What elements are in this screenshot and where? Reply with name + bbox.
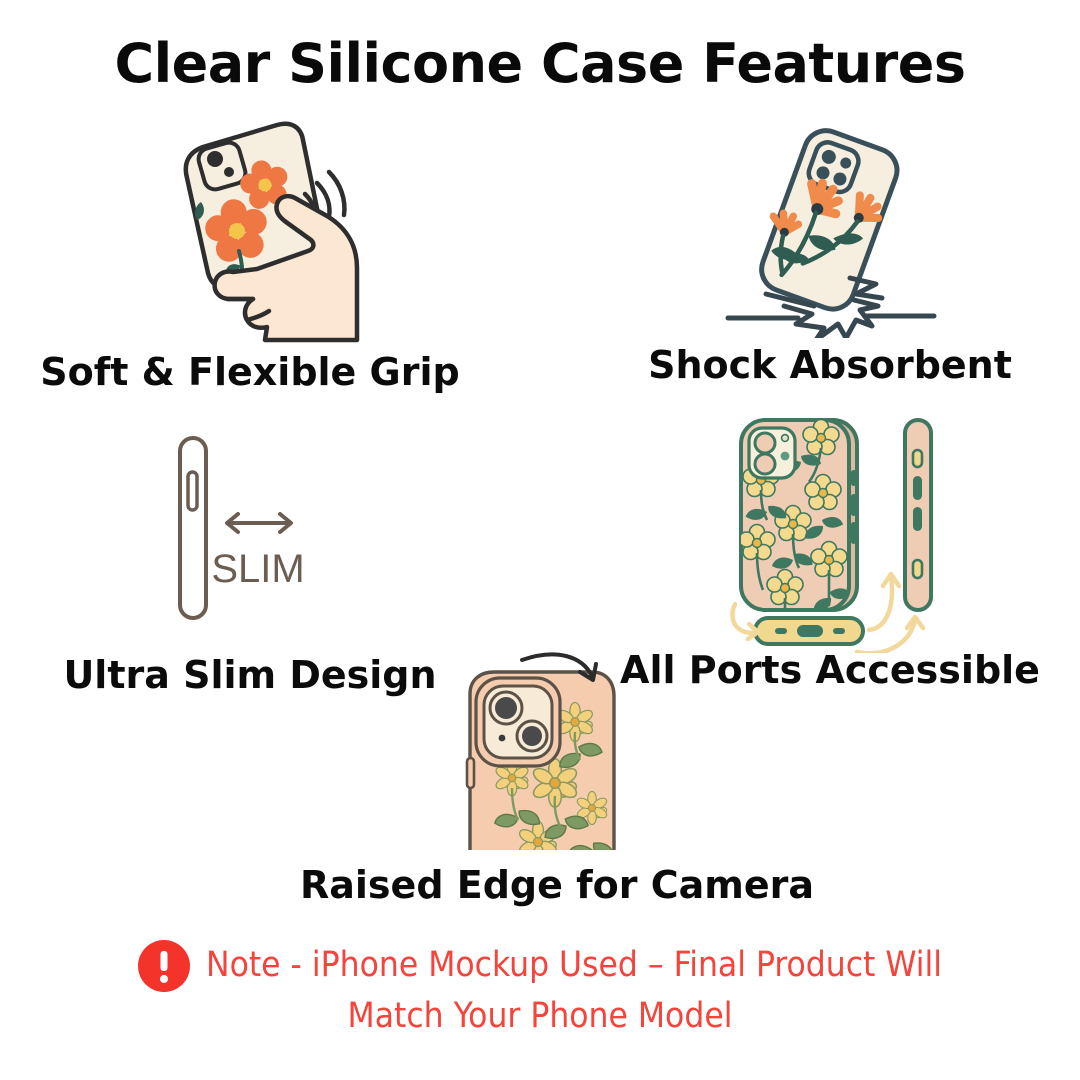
phone-case-ports-views-icon (705, 408, 955, 653)
feature-soft-flexible-grip: Soft & Flexible Grip (20, 118, 480, 408)
exclamation-circle-icon (138, 940, 190, 992)
disclaimer-note: Note - iPhone Mockup Used – Final Produc… (0, 938, 1080, 1036)
feature-label-grip: Soft & Flexible Grip (20, 350, 480, 394)
page-title: Clear Silicone Case Features (0, 32, 1080, 95)
feature-raised-edge-camera: Raised Edge for Camera (300, 650, 780, 920)
slim-arrow-label: SLIM (211, 547, 304, 591)
feature-label-shock: Shock Absorbent (600, 343, 1060, 387)
note-line-1: Note - iPhone Mockup Used – Final Produc… (0, 938, 1080, 992)
phone-case-impact-burst-icon (720, 118, 940, 338)
feature-art-grip (20, 118, 480, 343)
features-infographic: Clear Silicone Case Features (0, 0, 1080, 1080)
feature-art-slim: SLIM (20, 420, 480, 635)
feature-label-raised: Raised Edge for Camera (300, 863, 780, 907)
feature-art-ports (600, 408, 1060, 653)
phone-case-raised-camera-edge-icon (440, 650, 640, 850)
feature-art-shock (600, 118, 1060, 338)
note-line-2: Match Your Phone Model (0, 992, 1080, 1036)
note-text-line1: Note - iPhone Mockup Used – Final Produc… (206, 945, 942, 985)
note-text-line2: Match Your Phone Model (348, 996, 733, 1036)
phone-side-profile-slim-icon: SLIM (150, 420, 350, 635)
feature-art-raised (300, 650, 780, 850)
feature-shock-absorbent: Shock Absorbent (600, 118, 1060, 408)
hand-holding-flexing-phone-case-icon (125, 118, 375, 343)
